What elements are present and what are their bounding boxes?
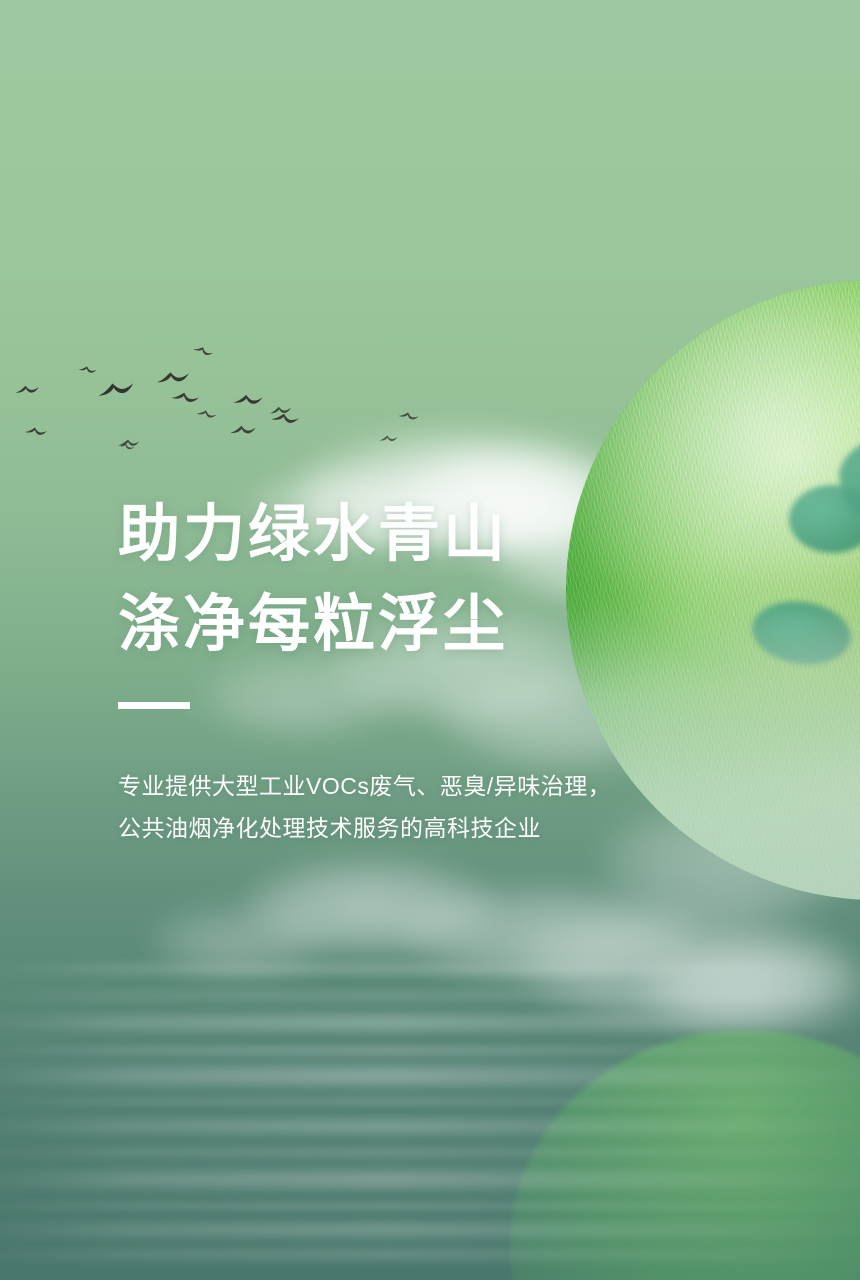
- continent-shape: [789, 485, 860, 553]
- wave-streak: [0, 1016, 860, 1030]
- wave-streak: [0, 1120, 860, 1133]
- cloud: [245, 860, 495, 950]
- bird-icon: [170, 391, 201, 406]
- headline-line-2: 涤净每粒浮尘: [118, 580, 678, 670]
- headline-line-1: 助力绿水青山: [118, 490, 678, 580]
- continent-shape: [748, 596, 855, 671]
- wave-streak: [0, 1250, 860, 1259]
- bird-icon: [195, 404, 218, 417]
- wave-streak: [0, 1046, 860, 1055]
- bird-icon: [117, 436, 136, 447]
- hero-text-block: 助力绿水青山 涤净每粒浮尘 专业提供大型工业VOCs废气、恶臭/异味治理， 公共…: [118, 490, 678, 850]
- wave-streak: [0, 1098, 860, 1105]
- bird-icon: [154, 368, 192, 389]
- bird-icon: [192, 340, 216, 355]
- bird-icon: [118, 434, 140, 444]
- bird-icon: [228, 423, 257, 438]
- continent-shape: [833, 410, 860, 528]
- bird-icon: [95, 377, 138, 403]
- bird-icon: [232, 393, 265, 409]
- water-surface: [0, 950, 860, 1280]
- title-divider: [118, 702, 190, 709]
- subtitle: 专业提供大型工业VOCs废气、恶臭/异味治理， 公共油烟净化处理技术服务的高科技…: [118, 765, 678, 850]
- subtitle-line-1: 专业提供大型工业VOCs废气、恶臭/异味治理，: [118, 765, 678, 808]
- page-title: 助力绿水青山 涤净每粒浮尘: [118, 490, 678, 670]
- subtitle-line-2: 公共油烟净化处理技术服务的高科技企业: [118, 807, 678, 850]
- hero-poster: 助力绿水青山 涤净每粒浮尘 专业提供大型工业VOCs废气、恶臭/异味治理， 公共…: [0, 0, 860, 1280]
- wave-streak: [0, 1172, 860, 1187]
- bird-icon: [267, 401, 292, 415]
- wave-streak: [0, 964, 860, 974]
- bird-icon: [398, 407, 421, 419]
- wave-streak: [0, 1202, 860, 1210]
- wave-streak: [0, 1068, 860, 1084]
- wave-streak: [0, 992, 860, 1000]
- wave-streak: [0, 1224, 860, 1236]
- wave-streak: [0, 1148, 860, 1157]
- bird-icon: [24, 423, 48, 434]
- bird-icon: [78, 360, 99, 370]
- bird-icon: [270, 412, 301, 427]
- bird-icon: [13, 381, 40, 395]
- bird-icon: [378, 429, 399, 439]
